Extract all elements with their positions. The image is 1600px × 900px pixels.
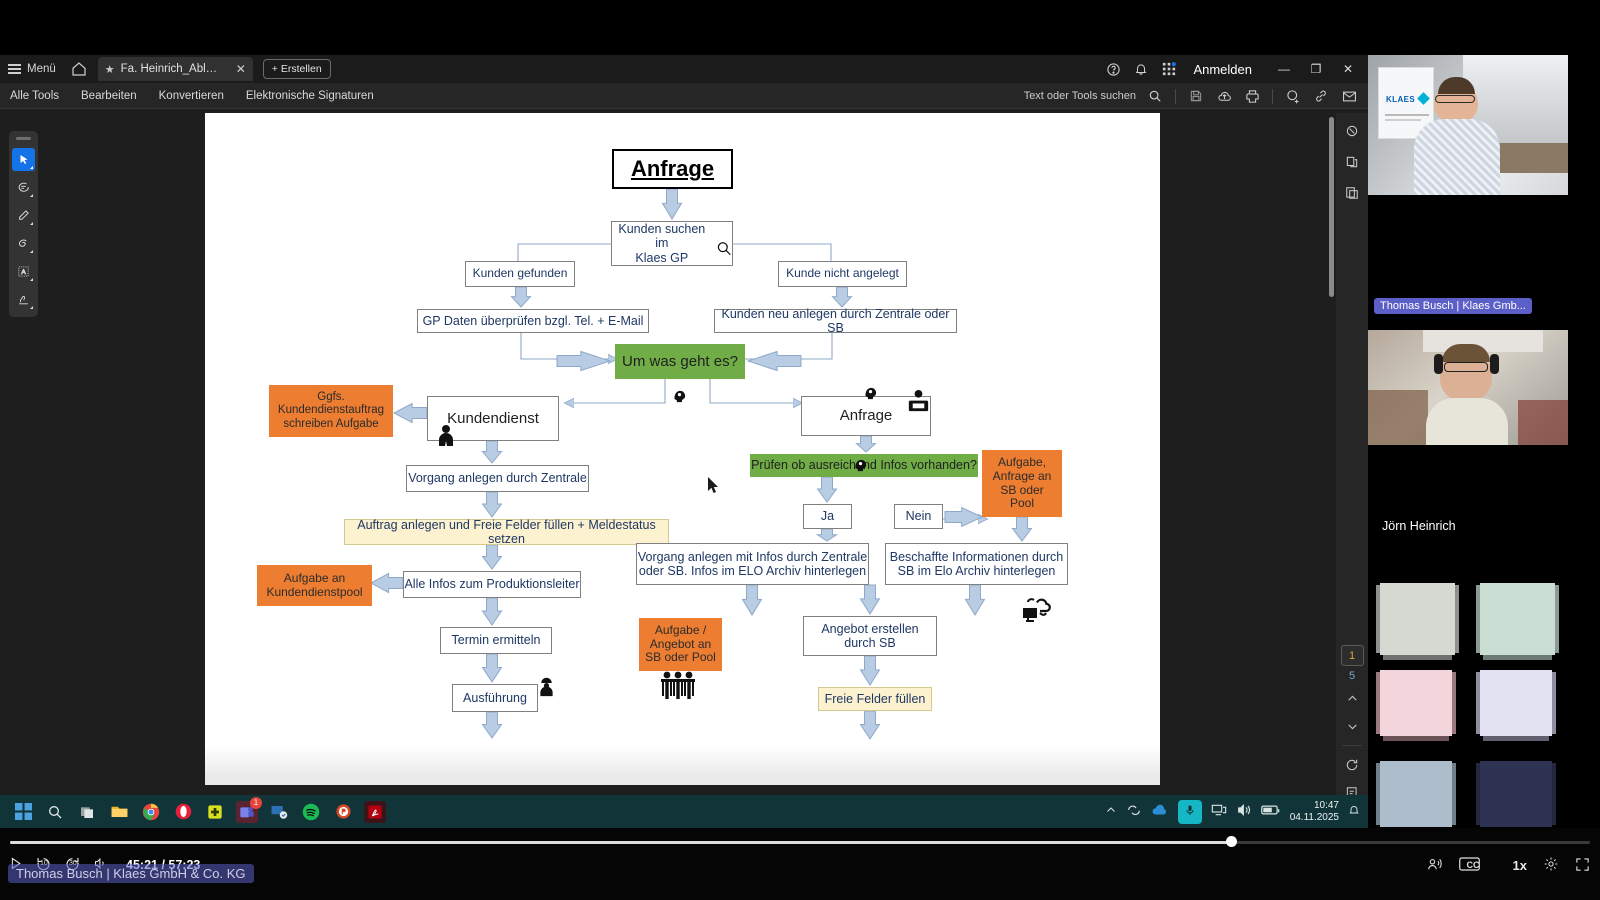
node-freie-felder: Freie Felder füllen [818,687,932,711]
menu-bearbeiten[interactable]: Bearbeiten [81,90,137,102]
right-toolbar: 1 5 [1336,113,1368,795]
participant-tile-joern[interactable]: Jörn Heinrich [1368,320,1568,575]
flow-arrow [857,436,876,452]
window-maximize-button[interactable]: ❐ [1300,55,1332,83]
closed-captions-button[interactable]: CC [1459,857,1496,874]
draw-tool-icon[interactable] [12,232,35,255]
chrome-icon[interactable] [140,801,162,823]
toolbar-drag-handle[interactable] [16,137,31,140]
add-comment-icon[interactable] [1280,83,1306,109]
plus-app-icon[interactable] [204,801,226,823]
node-aufgabe-anfrage-sb-pool: Aufgabe,Anfrage anSB oderPool [982,450,1062,517]
participant-video-joern [1368,330,1568,445]
cloud-sync-pc-icon [1020,593,1054,630]
microphone-icon[interactable] [1178,800,1202,824]
flow-arrow [1013,517,1032,541]
fullscreen-icon[interactable] [1575,857,1590,875]
flow-arrow [483,492,502,517]
menu-hamburger-icon[interactable] [8,64,21,74]
node-termin-ermitteln: Termin ermitteln [440,627,552,654]
menu-alle-tools[interactable]: Alle Tools [10,90,59,102]
page-down-icon[interactable] [1340,714,1364,738]
node-nein: Nein [894,504,943,529]
node-aufgabe-kundendienstpool: Aufgabe anKundendienstpool [257,565,372,606]
task-view-icon[interactable] [76,801,98,823]
annotation-toolbar: A [9,131,38,317]
divider [1272,89,1273,104]
close-tab-icon[interactable]: ✕ [236,62,246,76]
flow-arrow [818,477,837,502]
current-page-input[interactable]: 1 [1341,645,1364,666]
node-gp-daten: GP Daten überprüfen bzgl. Tel. + E-Mail [417,309,649,333]
acrobat-taskbar-icon[interactable] [364,801,386,823]
total-pages-label: 5 [1349,670,1355,682]
print-icon[interactable] [1239,83,1265,109]
flow-arrow [483,654,502,682]
titlebar-right-group: Anmelden — ❐ ✕ [1099,55,1364,83]
node-aufgabe-angebot-sb-pool: Aufgabe /Angebot anSB oder Pool [639,618,722,671]
avatar-thumbnail[interactable] [1468,575,1568,665]
node-kunden-gefunden: Kunden gefunden [465,261,575,287]
flow-arrow [483,712,502,738]
flow-arrow [394,404,427,423]
save-icon[interactable] [1183,83,1209,109]
flow-arrow [966,585,985,615]
windows-taskbar: 1 [0,795,1368,828]
taskbar-search-icon[interactable] [44,801,66,823]
node-angebot-erstellen: Angebot erstellendurch SB [803,616,937,656]
window-minimize-button[interactable]: — [1268,55,1300,83]
flow-arrow [945,508,982,527]
link-icon[interactable] [1308,83,1334,109]
flow-arrow [818,529,837,541]
text-tool-icon[interactable]: A [12,260,35,283]
teams-icon[interactable]: 1 [236,801,258,823]
page-bottom-fade [205,745,1160,785]
participant-name-joern: Jörn Heinrich [1376,517,1462,535]
head-question-icon [672,389,687,409]
vertical-scrollbar[interactable] [1329,117,1334,297]
copy-icon[interactable] [1340,181,1364,205]
flow-arrow [743,585,762,615]
windows-start-icon[interactable] [12,801,34,823]
clock-date: 04.11.2025 [1290,812,1339,823]
flow-arrow [557,352,610,371]
opera-icon[interactable] [172,801,194,823]
node-vorgang-mit-infos: Vorgang anlegen mit Infos durch Zentrale… [636,543,869,585]
volume-icon[interactable] [1236,803,1252,820]
seek-progress [10,841,1233,844]
node-auftrag-anlegen: Auftrag anlegen und Freie Felder füllen … [344,519,669,545]
search-input[interactable]: Text oder Tools suchen [1024,90,1136,102]
video-player-bar: 10 30 45:21 / 57:23 Thomas Busch | Klaes… [0,828,1600,900]
email-icon[interactable] [1336,83,1362,109]
unselect-icon[interactable] [1340,119,1364,143]
flow-arrow [371,574,403,593]
menu-elektronische-signaturen[interactable]: Elektronische Signaturen [246,90,374,102]
flow-arrow [483,598,502,625]
node-ja: Ja [803,504,852,529]
battery-icon[interactable] [1261,804,1281,819]
document-tab[interactable]: ★ Fa. Heinrich_Ablauf... ✕ [98,57,253,81]
settings-gear-icon[interactable] [1543,856,1559,875]
node-alle-infos-produktionsleiter: Alle Infos zum Produktionsleiter [403,571,581,598]
star-icon[interactable]: ★ [105,63,115,76]
flow-arrow [663,189,682,219]
cc-label: CC [1467,860,1480,870]
flow-arrow [861,585,880,614]
avatar-thumbnail[interactable] [1368,575,1468,665]
tray-expand-icon[interactable] [1105,804,1117,819]
flow-arrow [861,656,880,685]
node-vorgang-anlegen-zentrale: Vorgang anlegen durch Zentrale [406,465,589,492]
playback-speed-button[interactable]: 1x [1513,858,1527,873]
pdf-page: Anfrage Kunden suchen imKlaes GP Kunden … [205,113,1160,785]
svg-text:A: A [21,269,26,276]
file-explorer-icon[interactable] [108,801,130,823]
display-settings-icon[interactable] [1211,803,1227,820]
participant-thumbnail-grid [1368,575,1568,845]
onedrive-sync-icon[interactable] [1126,803,1142,820]
speaker-view-icon[interactable] [1426,857,1443,875]
highlight-tool-icon[interactable] [12,204,35,227]
person-suit-icon [434,423,458,452]
taskbar-clock[interactable]: 10:47 04.11.2025 [1290,800,1339,823]
flow-arrow [483,441,502,463]
flow-arrow [512,287,531,307]
document-viewport[interactable]: Anfrage Kunden suchen imKlaes GP Kunden … [38,113,1336,795]
acrobat-titlebar: Menü ★ Fa. Heinrich_Ablauf... ✕ + Erstel… [0,55,1368,83]
avatar-thumbnail[interactable] [1468,665,1568,755]
seek-bar[interactable] [10,841,1590,844]
menu-konvertieren[interactable]: Konvertieren [159,90,224,102]
divider [1342,745,1362,746]
teams-badge-count: 1 [250,797,262,809]
window-close-button[interactable]: ✕ [1332,55,1364,83]
menu-label[interactable]: Menü [27,63,56,75]
flow-arrow [748,352,801,371]
sign-in-button[interactable]: Anmelden [1183,62,1268,77]
group-people-icon [660,670,706,705]
avatar-thumbnail[interactable] [1368,665,1468,755]
participant-video-thomas: KLAES [1368,55,1568,195]
comment-tool-icon[interactable] [12,176,35,199]
participant-name-thomas: Thomas Busch | Klaes Gmb... [1374,298,1532,314]
apps-grid-icon[interactable] [1155,55,1183,83]
node-kunden-suchen: Kunden suchen imKlaes GP [611,221,733,266]
participant-tile-thomas[interactable]: KLAES Thomas Busch | Klaes Gmb... [1368,55,1568,320]
cloud-upload-icon[interactable] [1211,83,1237,109]
help-icon[interactable] [1099,55,1127,83]
flow-arrow [833,287,852,307]
node-um-was-geht-es: Um was geht es? [615,344,745,379]
node-anfrage-title: Anfrage [612,149,733,189]
page-up-icon[interactable] [1340,686,1364,710]
worker-helmet-icon [536,676,557,702]
spotify-icon[interactable] [300,801,322,823]
stamp-tool-icon[interactable] [12,288,35,311]
klaes-diamond-icon [1417,92,1430,105]
node-ggfs-kundendienstauftrag: Ggfs.Kundendienstauftragschreiben Aufgab… [269,385,393,437]
klaes-logo-text: KLAES [1386,95,1415,104]
divider [1175,89,1176,104]
notification-center-icon[interactable] [1348,804,1360,819]
flow-arrow [483,545,502,569]
acrobat-window: Menü ★ Fa. Heinrich_Ablauf... ✕ + Erstel… [0,55,1368,795]
flowchart: Anfrage Kunden suchen imKlaes GP Kunden … [205,113,1160,785]
person-laptop-icon [905,389,932,421]
acrobat-menubar: Alle Tools Bearbeiten Konvertieren Elekt… [0,83,1368,109]
seek-handle[interactable] [1226,836,1237,847]
head-question-icon [863,386,878,406]
screen: Menü ★ Fa. Heinrich_Ablauf... ✕ + Erstel… [0,0,1600,900]
player-right-controls: CC 1x [1426,856,1590,875]
search-icon[interactable] [1142,83,1168,109]
mouse-cursor [708,477,720,500]
node-beschaffe-infos: Beschaffte Informationen durchSB im Elo … [885,543,1068,585]
flow-arrow [861,711,880,739]
create-button[interactable]: + Erstellen [263,59,331,79]
search-icon [716,240,732,257]
speaker-name-overlay: Thomas Busch | Klaes GmbH & Co. KG [8,864,254,883]
video-participants-panel: KLAES Thomas Busch | Klaes Gmb... [1368,55,1568,845]
clock-time: 10:47 [1314,800,1339,811]
node-ausfuehrung: Ausführung [452,684,538,712]
menubar-right-group: Text oder Tools suchen [1024,83,1362,109]
head-question-icon [853,458,868,478]
rotate-icon[interactable] [1340,753,1364,777]
home-icon[interactable] [70,60,88,78]
remote-desktop-icon[interactable] [268,801,290,823]
node-kunden-neu-anlegen: Kunden neu anlegen durch Zentrale oder S… [714,309,957,333]
onedrive-icon[interactable] [1151,804,1169,819]
node-kunde-nicht-angelegt: Kunde nicht angelegt [778,261,907,287]
select-tool-icon[interactable] [12,148,35,171]
taskbar-icons: 1 [0,801,386,823]
system-tray: 10:47 04.11.2025 [1105,795,1360,828]
powerpoint-icon[interactable] [332,801,354,823]
tab-title: Fa. Heinrich_Ablauf... [121,63,220,75]
export-icon[interactable] [1340,150,1364,174]
notifications-bell-icon[interactable] [1127,55,1155,83]
